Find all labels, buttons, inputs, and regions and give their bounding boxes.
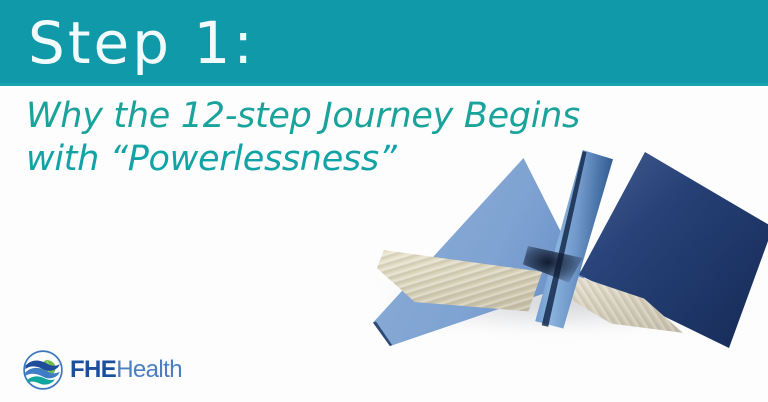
logo-brand-bold: FHE [70, 356, 116, 383]
slide-canvas: Step 1: Why the 12-step Journey Begins w… [0, 0, 768, 402]
fhe-health-logo: FHEHealth [22, 348, 182, 392]
header-banner-bottom-edge [0, 83, 768, 86]
open-book-illustration [355, 150, 765, 350]
logo-brand-light: Health [116, 356, 182, 383]
logo-wordmark: FHEHealth [70, 357, 182, 383]
subtitle-line-1: Why the 12-step Journey Begins [26, 95, 726, 138]
page-title: Step 1: [28, 9, 256, 77]
fhe-waves-leaf-mark-icon [22, 349, 64, 391]
